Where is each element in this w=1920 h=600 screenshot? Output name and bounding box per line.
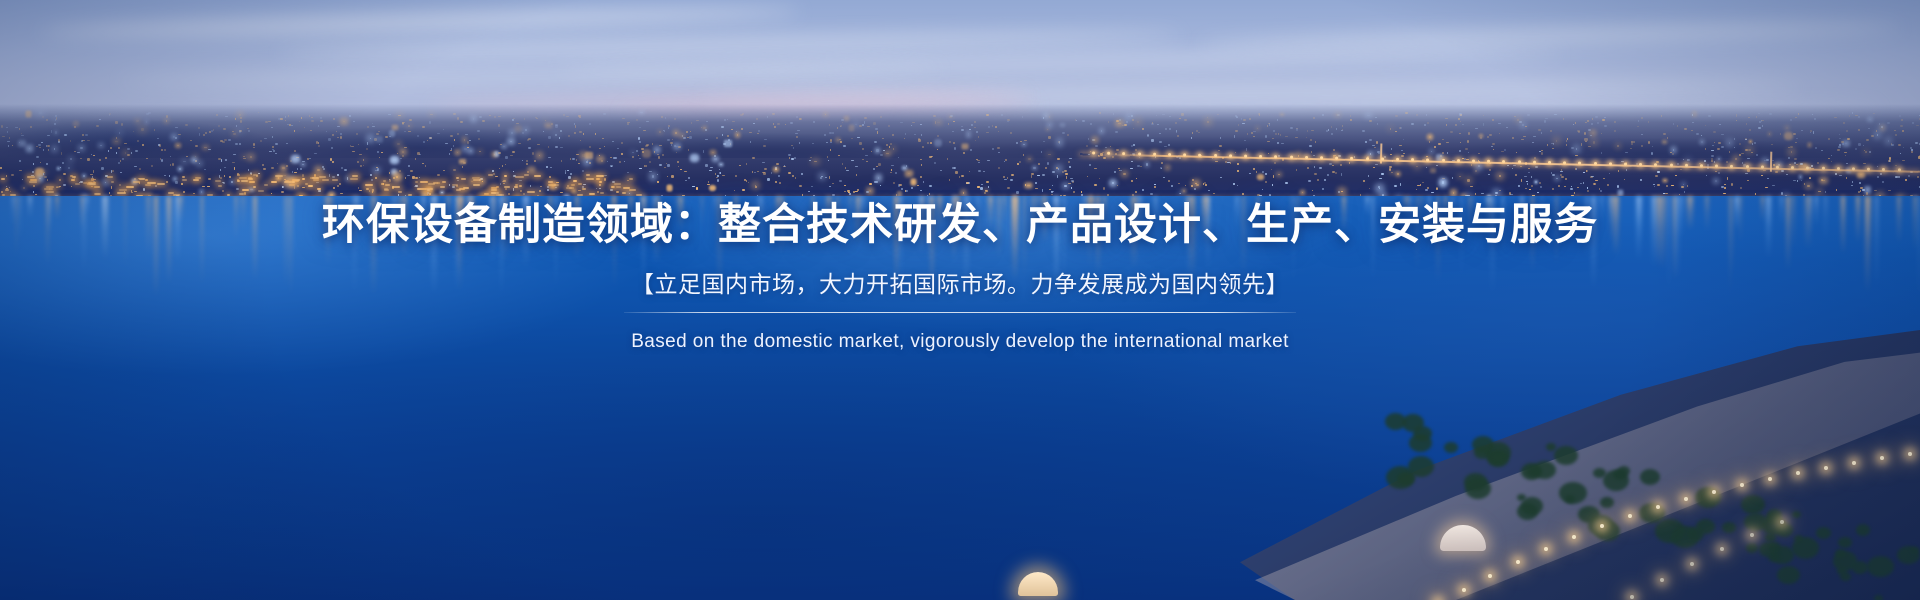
banner-content: 环保设备制造领域：整合技术研发、产品设计、生产、安装与服务 【立足国内市场，大力… <box>0 0 1920 600</box>
hero-banner: 环保设备制造领域：整合技术研发、产品设计、生产、安装与服务 【立足国内市场，大力… <box>0 0 1920 600</box>
divider-rule <box>624 312 1296 313</box>
banner-english-tagline: Based on the domestic market, vigorously… <box>631 332 1289 351</box>
banner-headline: 环保设备制造领域：整合技术研发、产品设计、生产、安装与服务 <box>322 204 1598 247</box>
banner-subheadline: 【立足国内市场，大力开拓国际市场。力争发展成为国内领先】 <box>631 273 1289 296</box>
